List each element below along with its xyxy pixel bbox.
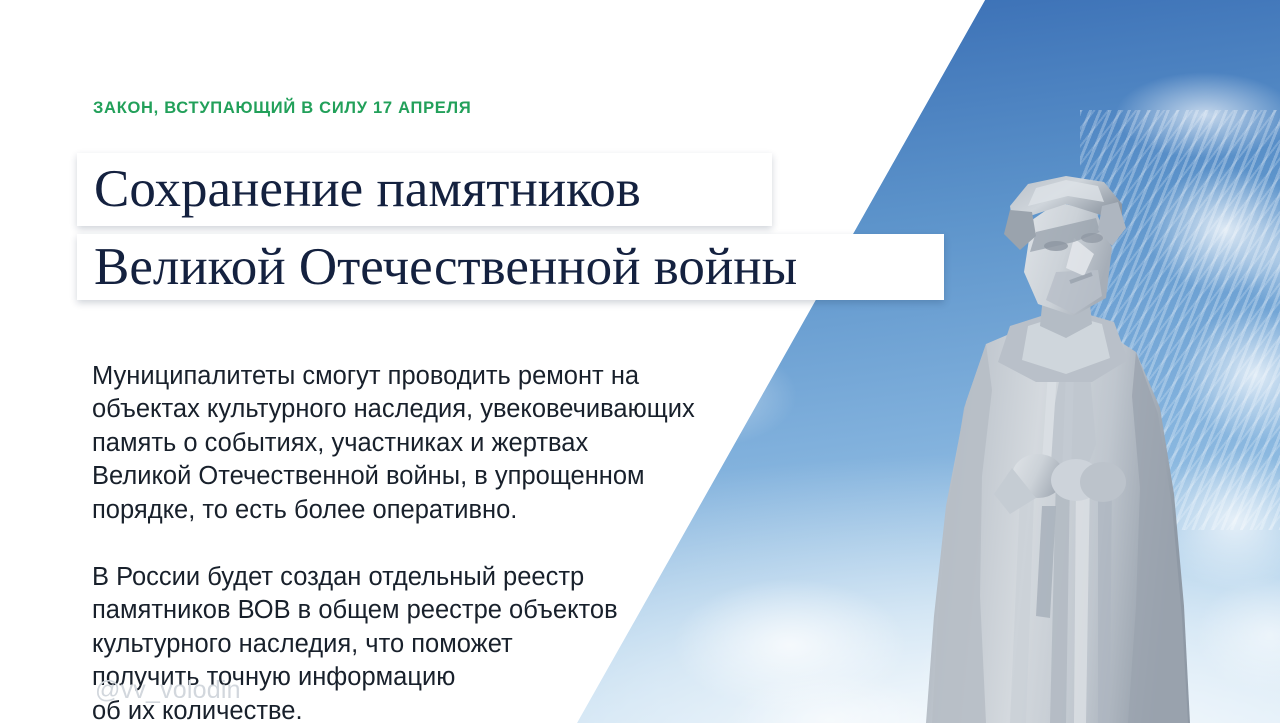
- headline-line-2: Великой Отечественной войны: [77, 234, 944, 300]
- account-handle-watermark: @vv_volodin: [95, 676, 241, 705]
- content-area: ЗАКОН, ВСТУПАЮЩИЙ В СИЛУ 17 АПРЕЛЯ Сохра…: [0, 0, 1280, 723]
- body-text: Муниципалитеты смогут проводить ремонт н…: [92, 326, 782, 723]
- headline-line-1: Сохранение памятников: [77, 153, 772, 226]
- body-paragraph-1: Муниципалитеты смогут проводить ремонт н…: [92, 360, 782, 528]
- headline-line-1-text: Сохранение памятников: [94, 163, 641, 216]
- social-card: ЗАКОН, ВСТУПАЮЩИЙ В СИЛУ 17 АПРЕЛЯ Сохра…: [0, 0, 1280, 723]
- headline-line-2-text: Великой Отечественной войны: [94, 241, 797, 294]
- kicker-label: ЗАКОН, ВСТУПАЮЩИЙ В СИЛУ 17 АПРЕЛЯ: [93, 99, 471, 118]
